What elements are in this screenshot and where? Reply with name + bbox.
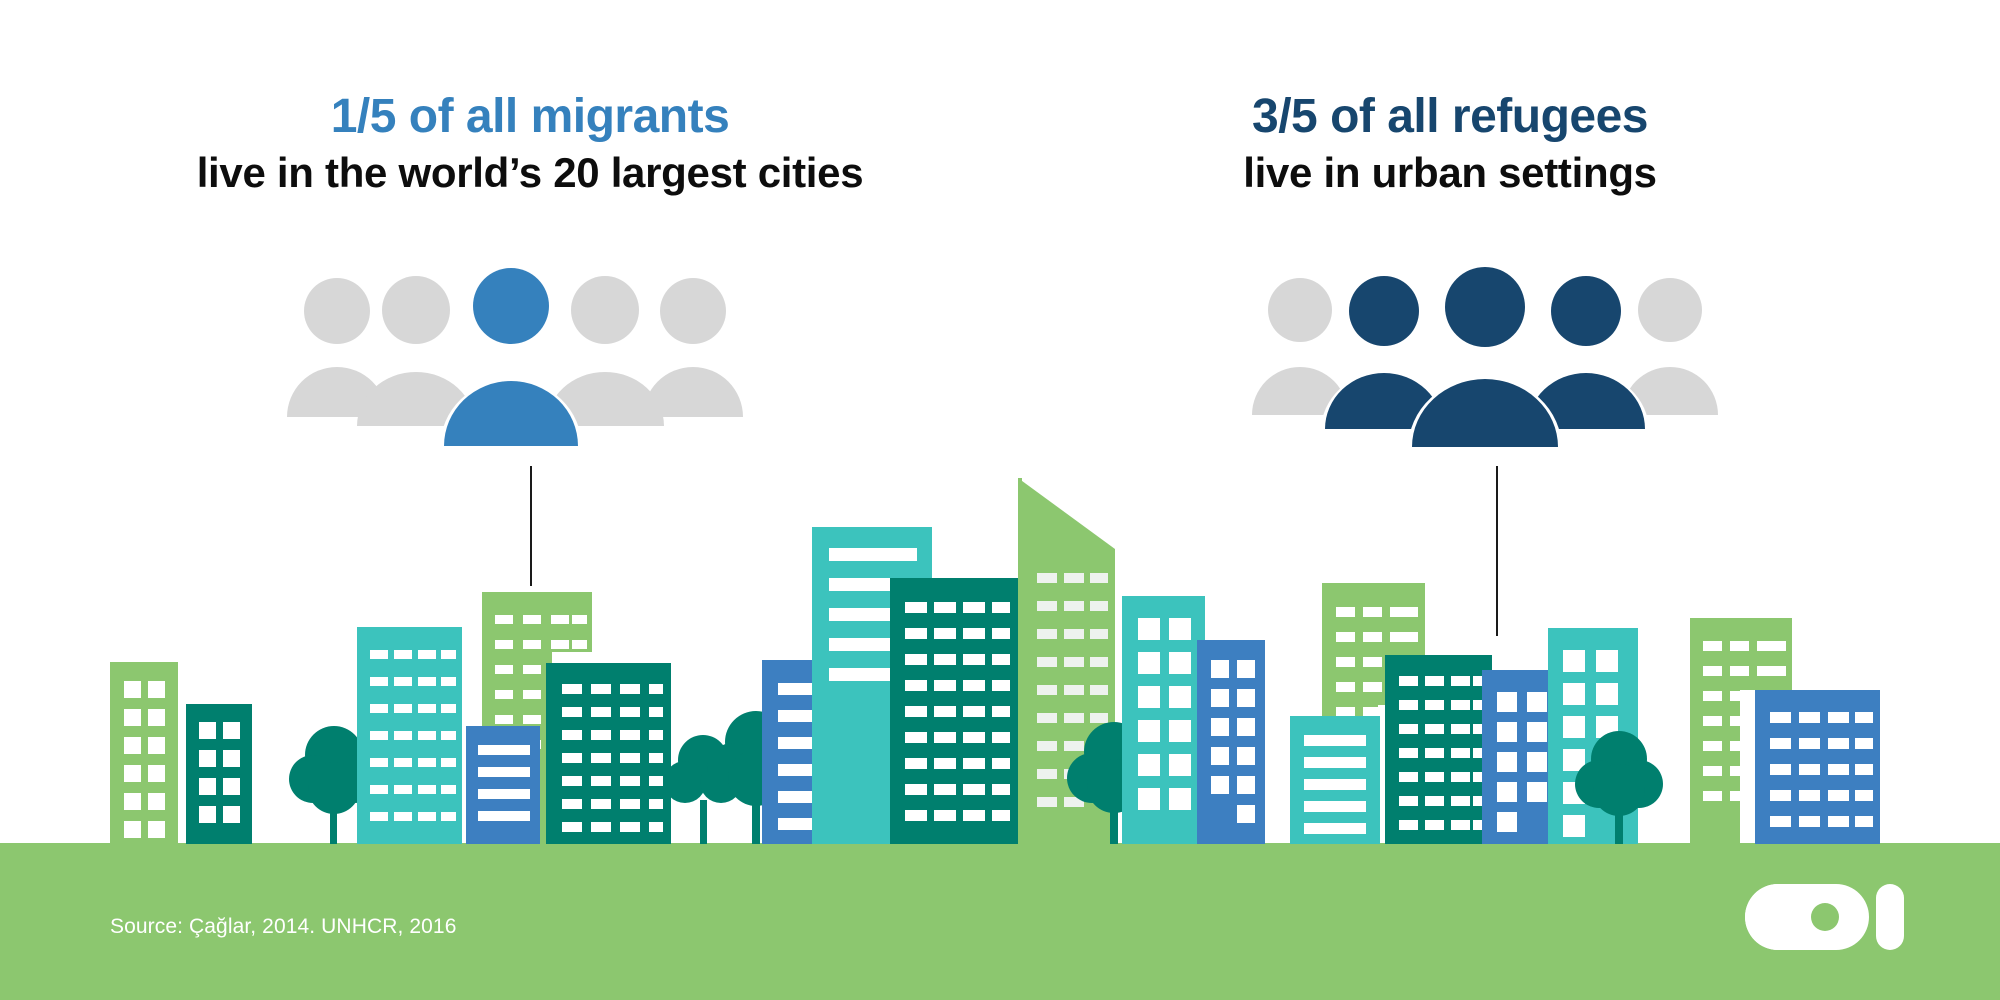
person-figure-5 <box>643 278 743 417</box>
building-1 <box>110 662 178 844</box>
building-2 <box>186 704 252 844</box>
building-18 <box>1690 618 1792 844</box>
tree-1 <box>289 726 379 844</box>
building-15 <box>1385 655 1492 844</box>
tree-4 <box>1067 722 1161 844</box>
stat-headline-migrants: 1/5 of all migrants <box>120 92 940 143</box>
connector-line-migrants <box>530 466 532 586</box>
building-19 <box>1755 690 1880 844</box>
tree-3 <box>707 711 805 844</box>
person-figure-3 <box>440 265 582 448</box>
building-13 <box>1322 583 1425 844</box>
building-11 <box>1122 596 1205 844</box>
building-16 <box>1482 670 1560 844</box>
building-12 <box>1197 640 1265 844</box>
people-pictogram-migrants <box>275 265 775 470</box>
building-4 <box>482 592 592 844</box>
stat-block-refugees: 3/5 of all refugees live in urban settin… <box>1040 92 1860 196</box>
building-14 <box>1290 716 1380 844</box>
person-figure-1 <box>1252 278 1348 415</box>
connector-line-refugees <box>1496 466 1498 636</box>
stat-block-migrants: 1/5 of all migrants live in the world’s … <box>120 92 940 196</box>
building-5 <box>466 726 540 844</box>
building-10-angled-roof <box>1018 478 1115 844</box>
building-6 <box>546 663 671 844</box>
source-citation: Source: Çağlar, 2014. UNHCR, 2016 <box>110 915 456 939</box>
people-pictogram-refugees <box>1245 265 1745 470</box>
person-figure-5 <box>1622 278 1718 415</box>
tree-2 <box>664 735 742 844</box>
building-3 <box>357 627 462 844</box>
building-9 <box>890 578 1018 844</box>
tree-5 <box>1575 731 1663 844</box>
stat-subtitle-refugees: live in urban settings <box>1040 143 1860 196</box>
building-8 <box>812 527 932 844</box>
stat-headline-refugees: 3/5 of all refugees <box>1040 92 1860 143</box>
building-7 <box>762 660 892 844</box>
infographic-canvas: 1/5 of all migrants live in the world’s … <box>0 0 2000 1000</box>
stat-subtitle-migrants: live in the world’s 20 largest cities <box>120 143 940 196</box>
odi-logo[interactable]: ODI <box>1740 878 1912 956</box>
person-figure-3 <box>1408 265 1562 449</box>
building-17 <box>1548 628 1638 844</box>
